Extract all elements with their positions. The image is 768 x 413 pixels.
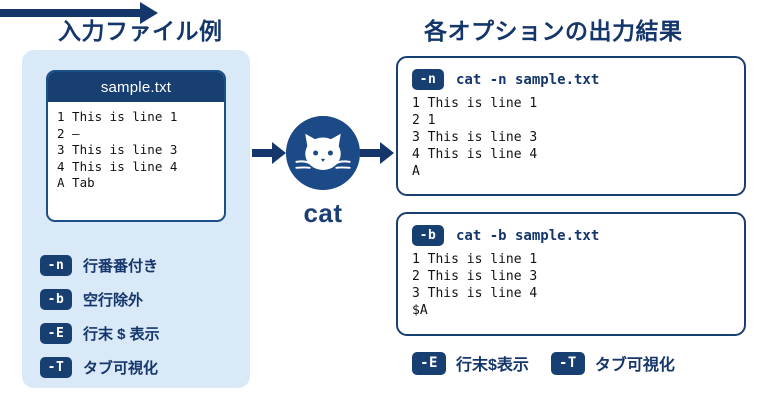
cat-command-node	[286, 116, 360, 190]
output-content-b: 1 This is line 1 2 This is line 3 3 This…	[398, 248, 744, 319]
arrow-cat-to-output	[360, 140, 394, 166]
option-label-b: 空行除外	[83, 289, 143, 310]
option-badge-t: -T	[40, 357, 72, 378]
output-command-row-b: -b cat -b sample.txt	[398, 214, 744, 248]
output-command-row-n: -n cat -n sample.txt	[398, 58, 744, 92]
file-content: 1 This is line 1 2 — 3 This is line 3 4 …	[48, 102, 224, 192]
option-badge-b: -b	[40, 289, 72, 310]
output-command-b: cat -b sample.txt	[456, 228, 599, 244]
legend-label-t: タブ可視化	[595, 351, 675, 375]
output-content-n: 1 This is line 1 2 1 3 This is line 3 4 …	[398, 92, 744, 180]
option-row-b[interactable]: -b 空行除外	[40, 282, 240, 316]
option-label-e: 行末 $ 表示	[83, 323, 160, 344]
option-row-t[interactable]: -T タブ可視化	[40, 350, 240, 384]
file-name-header: sample.txt	[48, 72, 224, 102]
bottom-legend: -E 行末$表示 -T タブ可視化	[412, 350, 675, 376]
output-card-n: -n cat -n sample.txt 1 This is line 1 2 …	[396, 56, 746, 196]
option-badge-n: -n	[40, 255, 72, 276]
legend-badge-e: -E	[412, 352, 446, 375]
option-badge-e: -E	[40, 323, 72, 344]
page-title-input: 入力ファイル例	[58, 12, 223, 46]
output-card-b: -b cat -b sample.txt 1 This is line 1 2 …	[396, 212, 746, 336]
legend-badge-t: -T	[551, 352, 585, 375]
option-label-t: タブ可視化	[83, 357, 158, 378]
option-row-e[interactable]: -E 行末 $ 表示	[40, 316, 240, 350]
arrow-input-to-cat	[252, 140, 286, 166]
sample-file-card: sample.txt 1 This is line 1 2 — 3 This i…	[46, 70, 226, 222]
cat-command-label: cat	[286, 198, 360, 229]
page-title-output: 各オプションの出力結果	[424, 12, 683, 46]
option-list: -n 行番番付き -b 空行除外 -E 行末 $ 表示 -T タブ可視化	[40, 248, 240, 384]
legend-label-e: 行末$表示	[456, 351, 529, 375]
option-row-n[interactable]: -n 行番番付き	[40, 248, 240, 282]
output-badge-n: -n	[412, 69, 444, 90]
output-badge-b: -b	[412, 225, 444, 246]
option-label-n: 行番番付き	[83, 255, 158, 276]
output-command-n: cat -n sample.txt	[456, 72, 599, 88]
cat-face-icon	[286, 116, 360, 190]
